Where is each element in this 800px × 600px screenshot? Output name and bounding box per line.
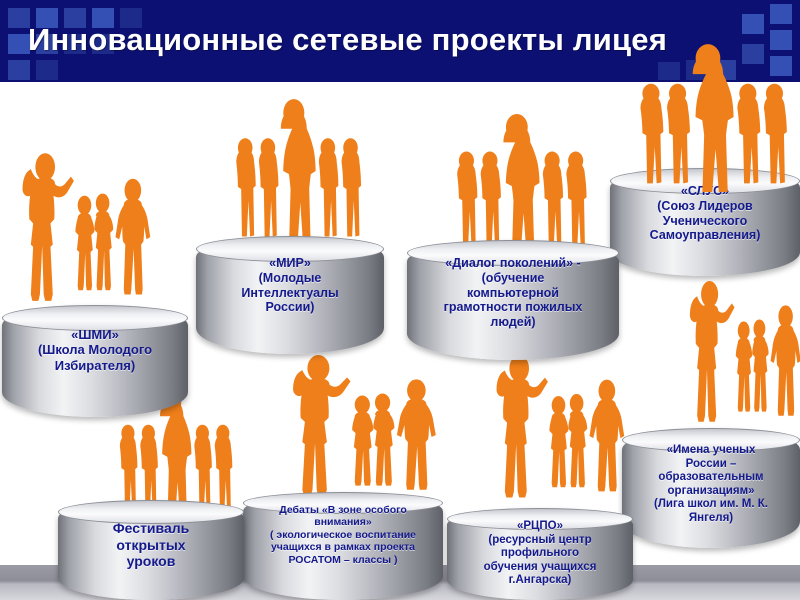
pedestal-debaty[interactable]: Дебаты «В зоне особого внимания» ( эколо… [243, 492, 443, 600]
pedestal-rcpo[interactable]: «РЦПО» (ресурсный центр профильного обуч… [447, 508, 633, 600]
pedestal-label-festival: Фестиваль открытых уроков [58, 520, 244, 570]
silhouette-group-rcpo [492, 352, 628, 516]
decor-square [8, 8, 30, 28]
decor-square [8, 34, 30, 54]
decor-square [8, 60, 30, 80]
silhouette-group-slus [612, 42, 800, 192]
pedestal-mir[interactable]: «МИР» (Молодые Интеллектуалы России) [196, 236, 384, 354]
decor-square [36, 60, 58, 80]
pedestal-label-mir: «МИР» (Молодые Интеллектуалы России) [196, 256, 384, 315]
silhouette-group-dialog [432, 112, 600, 254]
slide-canvas: Инновационные сетевые проекты лицея «СЛУ… [0, 0, 800, 600]
pedestal-label-slus: «СЛУС» (Союз Лидеров Ученического Самоуп… [610, 184, 800, 243]
pedestal-label-rcpo: «РЦПО» (ресурсный центр профильного обуч… [447, 520, 633, 588]
pedestal-label-debaty: Дебаты «В зоне особого внимания» ( эколо… [243, 504, 443, 566]
silhouette-group-imena [686, 278, 800, 440]
pedestal-shmi[interactable]: «ШМИ» (Школа Молодого Избирателя) [2, 305, 188, 417]
pedestal-label-shmi: «ШМИ» (Школа Молодого Избирателя) [2, 327, 188, 373]
pedestal-imena-uchenyh[interactable]: «Имена ученых России – образовательным о… [622, 428, 800, 548]
pedestal-dialog-pokoleniy[interactable]: «Диалог поколений» - (обучение компьютер… [407, 240, 619, 360]
silhouette-group-mir [212, 97, 374, 245]
pedestal-label-imena: «Имена ученых России – образовательным о… [622, 444, 800, 525]
pedestal-festival[interactable]: Фестиваль открытых уроков [58, 500, 244, 600]
pedestal-label-dialog: «Диалог поколений» - (обучение компьютер… [407, 256, 619, 330]
silhouette-group-debaty [288, 352, 440, 514]
decor-square [770, 4, 792, 24]
silhouette-group-shmi [18, 150, 154, 320]
